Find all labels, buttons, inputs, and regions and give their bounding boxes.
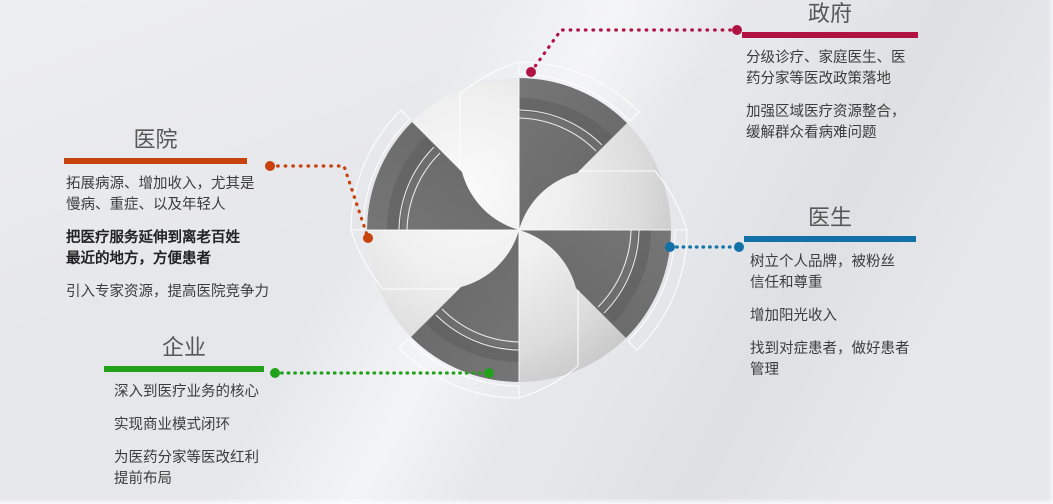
block-government-body: 分级诊疗、家庭医生、医 药分家等医改政策落地 加强区域医疗资源整合， 缓解群众看… (742, 48, 942, 144)
block-government: 政府 分级诊疗、家庭医生、医 药分家等医改政策落地 加强区域医疗资源整合， 缓解… (742, 2, 942, 144)
block-hospital-body: 拓展病源、增加收入，尤其是 慢病、重症、以及年轻人 把医疗服务延伸到离老百姓 最… (64, 174, 314, 303)
block-hospital: 医院 拓展病源、增加收入，尤其是 慢病、重症、以及年轻人 把医疗服务延伸到离老百… (64, 128, 314, 303)
block-doctor: 医生 树立个人品牌，被粉丝 信任和尊重 增加阳光收入 找到对症患者，做好患者 管… (744, 206, 944, 381)
block-government-para-2: 加强区域医疗资源整合， 缓解群众看病难问题 (746, 102, 942, 144)
block-enterprise-rule (104, 366, 264, 372)
block-hospital-para-3: 引入专家资源，提高医院竞争力 (66, 282, 314, 303)
block-hospital-rule (64, 158, 247, 164)
block-enterprise-body: 深入到医疗业务的核心 实现商业模式闭环 为医药分家等医改红利 提前布局 (104, 382, 324, 490)
block-doctor-para-3: 找到对症患者，做好患者 管理 (750, 339, 944, 381)
block-hospital-para-2: 把医疗服务延伸到离老百姓 最近的地方，方便患者 (66, 228, 314, 270)
canvas-edge-right (1048, 0, 1053, 504)
block-enterprise-para-1: 深入到医疗业务的核心 (114, 382, 324, 403)
block-hospital-para-1: 拓展病源、增加收入，尤其是 慢病、重症、以及年轻人 (66, 174, 314, 216)
infographic-canvas: 政府 分级诊疗、家庭医生、医 药分家等医改政策落地 加强区域医疗资源整合， 缓解… (0, 0, 1053, 504)
block-government-title: 政府 (742, 2, 918, 28)
block-enterprise-para-3: 为医药分家等医改红利 提前布局 (114, 448, 324, 490)
canvas-edge-bottom (0, 498, 1053, 504)
block-doctor-rule (744, 236, 916, 242)
block-hospital-title: 医院 (64, 128, 247, 154)
block-government-rule (742, 32, 918, 38)
block-enterprise-title: 企业 (104, 336, 264, 362)
block-doctor-body: 树立个人品牌，被粉丝 信任和尊重 增加阳光收入 找到对症患者，做好患者 管理 (744, 252, 944, 381)
pinwheel-sphere-graphic (330, 20, 710, 420)
block-government-para-1: 分级诊疗、家庭医生、医 药分家等医改政策落地 (746, 48, 942, 90)
block-doctor-title: 医生 (744, 206, 916, 232)
block-enterprise: 企业 深入到医疗业务的核心 实现商业模式闭环 为医药分家等医改红利 提前布局 (104, 336, 324, 490)
block-doctor-para-1: 树立个人品牌，被粉丝 信任和尊重 (750, 252, 944, 294)
block-enterprise-para-2: 实现商业模式闭环 (114, 415, 324, 436)
block-doctor-para-2: 增加阳光收入 (750, 306, 944, 327)
